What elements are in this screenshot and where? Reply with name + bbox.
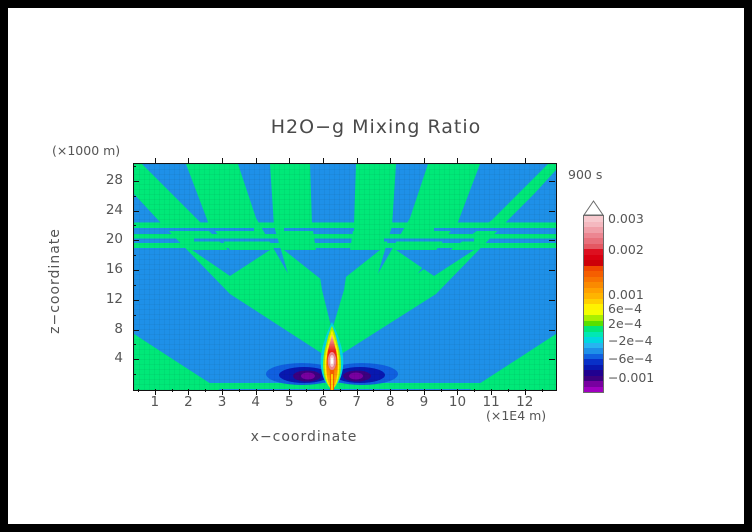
y-axis-tick-label: 28: [93, 172, 123, 188]
x-axis-minor-tick: [138, 389, 139, 392]
y-axis-tick: [133, 240, 139, 241]
colorbar[interactable]: [583, 215, 604, 393]
x-axis-tick-top: [357, 158, 358, 164]
x-axis-tick-label: 9: [409, 394, 439, 410]
x-axis-label: x−coordinate: [8, 429, 600, 445]
colorbar-tick-label: −2e−4: [608, 333, 653, 348]
x-axis-minor-tick: [542, 389, 543, 392]
x-axis-tick-label: 1: [140, 394, 170, 410]
x-axis-unit-label: (×1E4 m): [486, 408, 546, 423]
x-axis-tick-label: 5: [274, 394, 304, 410]
y-axis-minor-tick: [133, 344, 136, 345]
y-axis-tick-label: 12: [93, 291, 123, 307]
y-axis-minor-tick: [133, 315, 136, 316]
y-axis-tick: [133, 330, 139, 331]
y-axis-tick-right: [549, 240, 555, 241]
chart-title: H2O−g Mixing Ratio: [8, 116, 744, 138]
x-axis-tick-top: [222, 158, 223, 164]
colorbar-tick-label: 0.001: [608, 287, 644, 302]
x-axis-minor-tick: [239, 389, 240, 392]
y-axis-tick: [133, 300, 139, 301]
y-axis-tick-label: 20: [93, 231, 123, 247]
y-axis-tick: [133, 211, 139, 212]
y-axis-tick-right: [549, 181, 555, 182]
x-axis-tick-label: 11: [476, 394, 506, 410]
x-axis-minor-tick: [441, 389, 442, 392]
x-axis-minor-tick: [306, 389, 307, 392]
y-axis-tick-right: [549, 359, 555, 360]
y-axis-minor-tick: [133, 196, 136, 197]
x-axis-tick-label: 2: [173, 394, 203, 410]
y-axis-tick: [133, 181, 139, 182]
colorbar-tick-label: −6e−4: [608, 351, 653, 366]
colorbar-band: [584, 387, 603, 393]
y-axis-tick-right: [549, 330, 555, 331]
x-axis-minor-tick: [407, 389, 408, 392]
x-axis-tick-top: [188, 158, 189, 164]
y-axis-tick-right: [549, 211, 555, 212]
y-axis-label: z−coordinate: [47, 191, 63, 371]
y-axis-tick: [133, 270, 139, 271]
x-axis-tick-top: [256, 158, 257, 164]
x-axis-tick-top: [424, 158, 425, 164]
y-axis-tick-label: 4: [93, 350, 123, 366]
colorbar-tick-label: 6e−4: [608, 301, 642, 316]
figure-canvas: H2O−g Mixing Ratio (×1000 m) (×1E4 m) 90…: [8, 8, 744, 524]
x-axis-minor-tick: [340, 389, 341, 392]
x-axis-tick-label: 10: [442, 394, 472, 410]
y-axis-minor-tick: [133, 374, 136, 375]
colorbar-tick-label: −0.001: [608, 370, 654, 385]
x-axis-tick-label: 4: [241, 394, 271, 410]
x-axis-tick-label: 8: [375, 394, 405, 410]
x-axis-minor-tick: [508, 389, 509, 392]
x-axis-tick-top: [525, 158, 526, 164]
x-axis-minor-tick: [474, 389, 475, 392]
contour-field: [134, 164, 556, 390]
x-axis-tick-top: [457, 158, 458, 164]
x-axis-tick-top: [289, 158, 290, 164]
y-axis-tick-right: [549, 300, 555, 301]
y-axis-tick-right: [549, 270, 555, 271]
x-axis-tick-top: [390, 158, 391, 164]
x-axis-tick-top: [155, 158, 156, 164]
x-axis-tick-label: 7: [342, 394, 372, 410]
y-axis-minor-tick: [133, 166, 136, 167]
colorbar-tick-label: 2e−4: [608, 316, 642, 331]
y-axis-tick-label: 8: [93, 321, 123, 337]
x-axis-minor-tick: [373, 389, 374, 392]
colorbar-tick-label: 0.003: [608, 211, 644, 226]
x-axis-tick-top: [323, 158, 324, 164]
x-axis-tick-label: 12: [510, 394, 540, 410]
y-axis-tick: [133, 359, 139, 360]
contour-plot-area: [133, 163, 557, 391]
x-axis-tick-top: [491, 158, 492, 164]
y-axis-minor-tick: [133, 255, 136, 256]
y-axis-minor-tick: [133, 225, 136, 226]
colorbar-top-arrow: [583, 200, 604, 216]
y-axis-unit-label: (×1000 m): [52, 143, 120, 158]
y-axis-tick-label: 16: [93, 261, 123, 277]
time-annotation: 900 s: [568, 167, 602, 182]
x-axis-tick-label: 3: [207, 394, 237, 410]
y-axis-tick-label: 24: [93, 202, 123, 218]
x-axis-minor-tick: [172, 389, 173, 392]
y-axis-minor-tick: [133, 285, 136, 286]
colorbar-tick-label: 0.002: [608, 242, 644, 257]
x-axis-tick-label: 6: [308, 394, 338, 410]
x-axis-minor-tick: [273, 389, 274, 392]
x-axis-minor-tick: [205, 389, 206, 392]
